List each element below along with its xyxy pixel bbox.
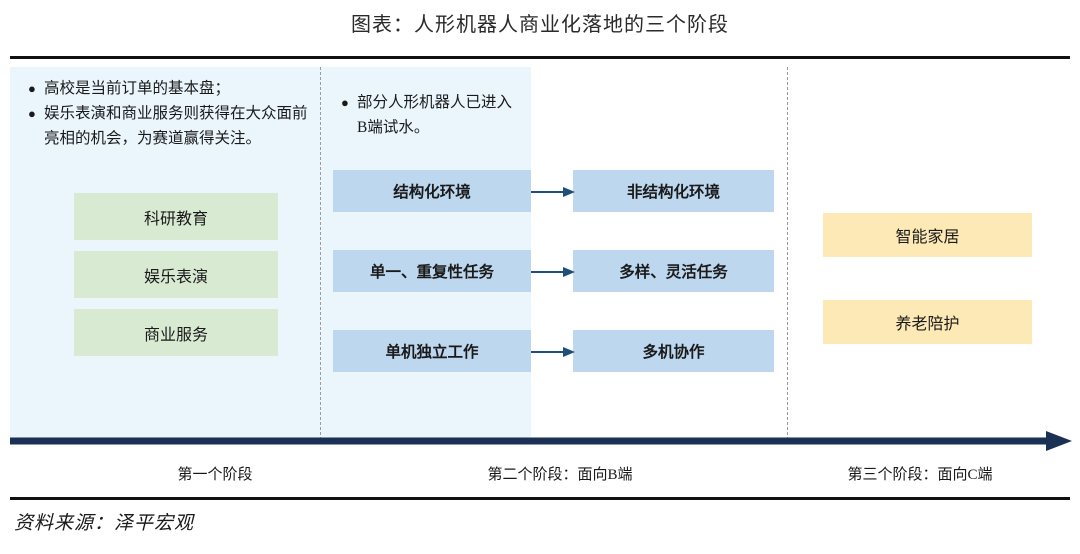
- bullet-dot-icon: ●: [28, 76, 44, 101]
- figure-canvas: 图表：人形机器人商业化落地的三个阶段 ● 高校是当前订单的基本盘； ● 娱乐表演…: [0, 0, 1080, 554]
- stage-one-bullet-2: ● 娱乐表演和商业服务则获得在大众面前亮相的机会，为赛道赢得关注。: [28, 101, 310, 151]
- stage-one-bullet-1: ● 高校是当前订单的基本盘；: [28, 76, 310, 101]
- stage-two-bullet-1: ● 部分人形机器人已进入B端试水。: [341, 90, 521, 140]
- stage-three-axis-label: 第三个阶段：面向C端: [760, 463, 1080, 484]
- timeline-arrow: [10, 430, 1072, 452]
- stage-three-box-1: 智能家居: [823, 213, 1032, 257]
- stage-two-to-box-2: 多样、灵活任务: [573, 250, 774, 292]
- bottom-divider-rule: [10, 497, 1070, 500]
- arrow-right-icon: [531, 346, 575, 358]
- top-divider-rule: [10, 56, 1070, 59]
- stage-three-box-2: 养老陪护: [823, 300, 1032, 344]
- stage-two-bullet-1-text: 部分人形机器人已进入B端试水。: [357, 90, 521, 140]
- timeline-arrow-icon: [10, 430, 1072, 452]
- stage-two-from-box-2: 单一、重复性任务: [333, 250, 531, 292]
- stage-one-box-2: 娱乐表演: [74, 251, 278, 298]
- stage-two-to-box-3: 多机协作: [573, 330, 774, 372]
- figure-title: 图表：人形机器人商业化落地的三个阶段: [0, 8, 1080, 37]
- stage-two-bullets: ● 部分人形机器人已进入B端试水。: [341, 90, 521, 140]
- source-note: 资料来源：泽平宏观: [14, 508, 194, 535]
- stage-two-from-box-3: 单机独立工作: [333, 330, 531, 372]
- stage-divider-2: [787, 67, 788, 440]
- stage-divider-1: [320, 67, 321, 440]
- stage-one-box-1: 科研教育: [74, 193, 278, 240]
- stage-one-bullets: ● 高校是当前订单的基本盘； ● 娱乐表演和商业服务则获得在大众面前亮相的机会，…: [28, 76, 310, 151]
- transition-arrow-3: [531, 345, 575, 357]
- stage-two-to-box-1: 非结构化环境: [573, 170, 774, 212]
- stage-two-from-box-1: 结构化环境: [333, 170, 531, 212]
- arrow-right-icon: [531, 266, 575, 278]
- stage-one-bullet-1-text: 高校是当前订单的基本盘；: [44, 76, 310, 101]
- stage-one-bullet-2-text: 娱乐表演和商业服务则获得在大众面前亮相的机会，为赛道赢得关注。: [44, 101, 310, 151]
- stage-one-box-3: 商业服务: [74, 309, 278, 356]
- transition-arrow-1: [531, 185, 575, 197]
- bullet-dot-icon: ●: [28, 101, 44, 126]
- transition-arrow-2: [531, 265, 575, 277]
- stage-one-axis-label: 第一个阶段: [100, 463, 330, 484]
- stage-two-axis-label: 第二个阶段：面向B端: [400, 463, 720, 484]
- arrow-right-icon: [531, 186, 575, 198]
- bullet-dot-icon: ●: [341, 90, 357, 115]
